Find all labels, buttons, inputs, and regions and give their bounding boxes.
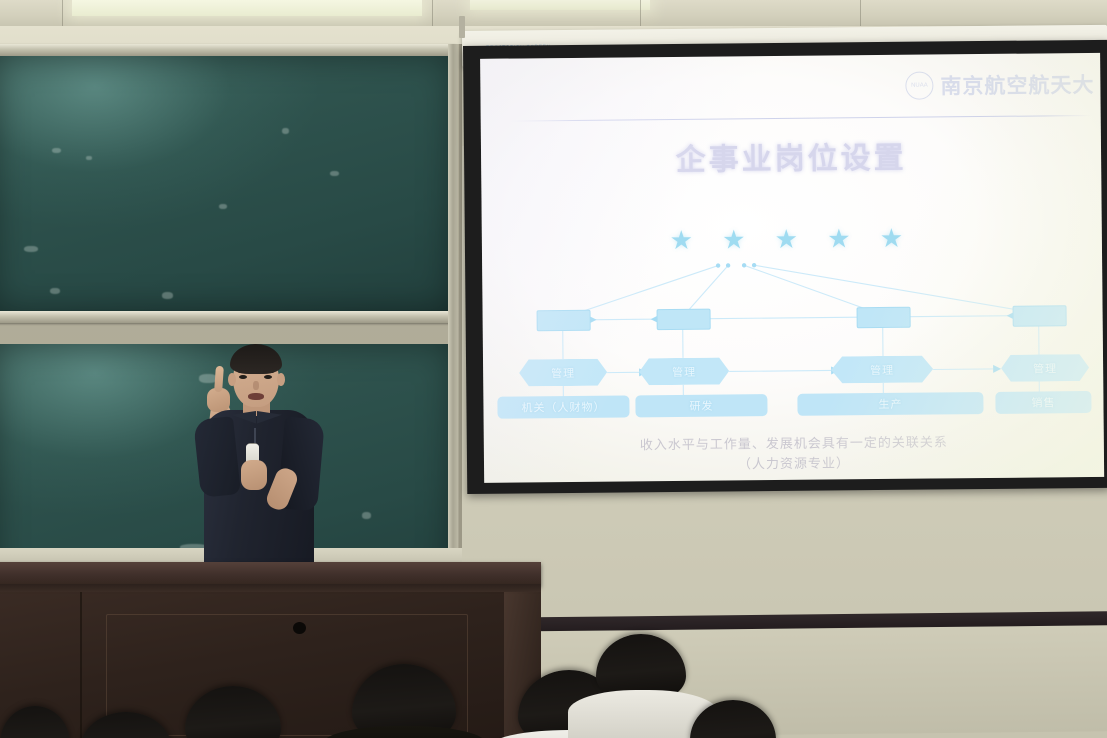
blackboard-middle-rail (0, 311, 456, 323)
university-name-text: 南京航空航天大 (940, 69, 1094, 100)
ceiling-light-fixture (72, 0, 422, 16)
diagram-top-node (657, 309, 711, 331)
diagram-department-row: 机关（人财物） 研发 生产 销售 (483, 391, 1103, 421)
presenter-mic-hand (241, 460, 267, 490)
diagram-department-node: 机关（人财物） (497, 395, 629, 418)
presenter-eye-right (264, 375, 272, 379)
diagram-management-node: 管理 (831, 356, 933, 384)
presenter-nose (253, 381, 259, 390)
diagram-department-node: 研发 (635, 394, 767, 417)
university-seal-icon: NUAA (905, 71, 933, 99)
projection-screen-surface: NUAA 南京航空航天大 企事业岗位设置 ★ ★ ★ ★ ★ (480, 53, 1104, 483)
diagram-top-node (1013, 305, 1067, 327)
org-structure-diagram: 管理 管理 管理 管理 机关（人财物） 研发 生产 销售 (482, 253, 1104, 419)
university-logo: NUAA 南京航空航天大 (905, 69, 1094, 101)
slide-header-divider (509, 115, 1091, 122)
diagram-management-node: 管理 (639, 357, 729, 385)
slide-title: 企事业岗位设置 (481, 131, 1101, 181)
slide-content: NUAA 南京航空航天大 企事业岗位设置 ★ ★ ★ ★ ★ (480, 53, 1104, 483)
presenter (175, 340, 350, 575)
diagram-management-node: 管理 (519, 359, 607, 387)
ceiling-grid-line (432, 0, 433, 26)
diagram-department-node: 生产 (797, 392, 983, 416)
ceiling-grid-line (860, 0, 861, 26)
presenter-ear-right (277, 373, 285, 386)
diagram-department-node: 销售 (995, 391, 1091, 414)
ceiling-grid-line (62, 0, 63, 26)
blackboard-top-rail (0, 44, 456, 56)
blackboard-right-rail (448, 44, 458, 556)
diagram-management-row: 管理 管理 管理 管理 (483, 354, 1103, 390)
presenter-brow-left (238, 370, 249, 373)
slide-caption: 收入水平与工作量、发展机会具有一定的关联关系 （人力资源专业） (484, 431, 1104, 477)
presenter-eye-left (239, 375, 247, 379)
presenter-left-sleeve (193, 416, 241, 498)
podium-top-edge (0, 584, 541, 592)
diagram-top-node (537, 310, 591, 332)
podium-cable-hole (293, 622, 306, 634)
presenter-mouth (248, 393, 264, 400)
podium-top-surface (0, 562, 541, 586)
ceiling-grid-line (640, 0, 641, 26)
blackboard-panel-upper (0, 56, 452, 311)
projection-screen: NUAA 南京航空航天大 企事业岗位设置 ★ ★ ★ ★ ★ (463, 40, 1107, 494)
screen-mount-bracket (459, 16, 465, 38)
seal-mark-text: NUAA (911, 83, 928, 89)
classroom-photo-scene: PROJECTION SCREEN NUAA 南京航空航天大 企事业岗位设置 ★… (0, 0, 1107, 738)
presenter-ear-left (228, 373, 236, 386)
presenter-brow-right (263, 370, 274, 373)
diagram-top-node (857, 307, 911, 329)
diagram-management-node: 管理 (1001, 354, 1089, 382)
five-star-rating: ★ ★ ★ ★ ★ (482, 221, 1102, 258)
ceiling-light-fixture-secondary (470, 0, 650, 10)
